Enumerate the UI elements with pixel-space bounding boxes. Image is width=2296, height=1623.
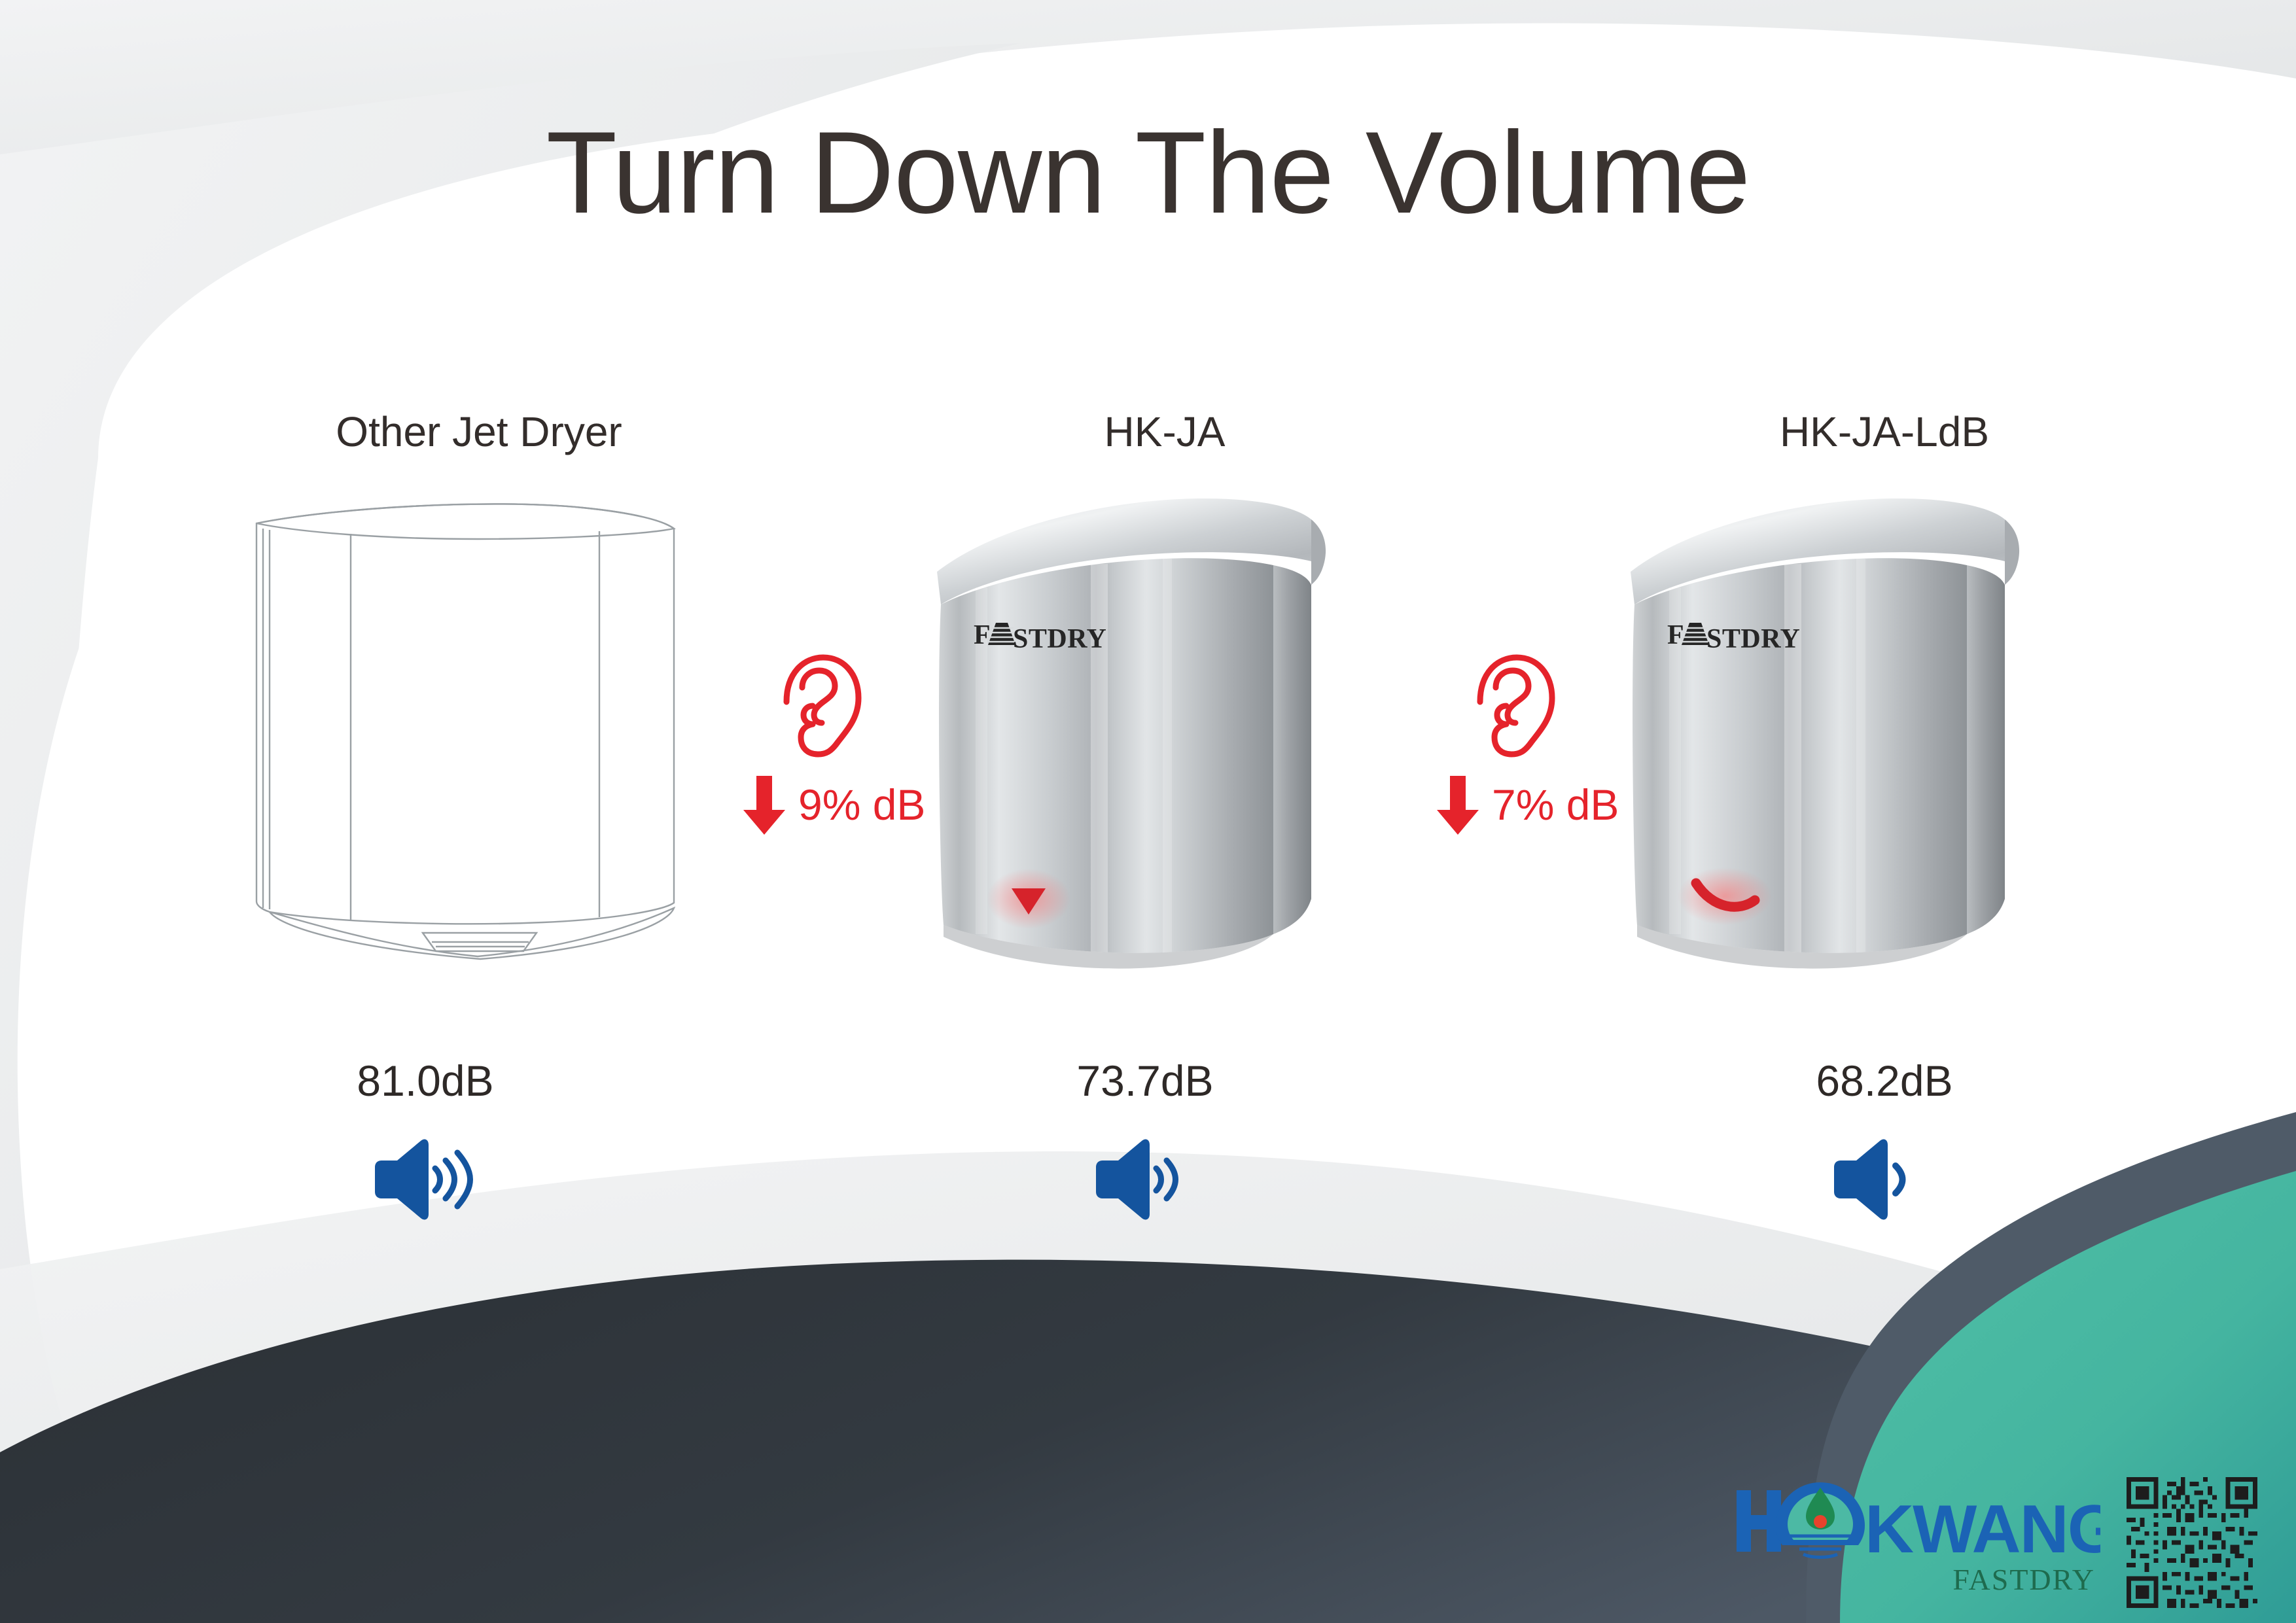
hand-dryer-photo: F STDRY [1597,483,2133,1006]
db-value: 81.0dB [157,1056,694,1106]
product-image-hk-ja: F STDRY [903,483,1439,1006]
jet-dryer-outline-icon [216,483,752,1006]
svg-text:F: F [974,620,991,650]
product-column-hk-ja: HK-JA F [903,406,1439,1222]
slide-canvas: Turn Down The Volume Other Jet Dryer [0,0,2296,1623]
page-title: Turn Down The Volume [0,114,2296,231]
product-image-outline-dryer [216,483,752,1006]
water-drop-emblem [1776,1482,1865,1558]
svg-text:STDRY: STDRY [1706,624,1800,654]
ear-icon [1466,651,1564,759]
fastdry-sub-label: FASTDRY [1952,1562,2095,1597]
product-label: Other Jet Dryer [211,406,747,458]
speaker-1-wave-icon [1615,1137,2151,1222]
product-column-other-jet-dryer: Other Jet Dryer [216,406,752,1222]
down-arrow-icon [739,773,789,836]
product-image-hk-ja-ldb: F STDRY [1597,483,2133,1006]
product-label: HK-JA-LdB [1616,406,2153,458]
speaker-3-waves-icon [156,1137,692,1222]
product-label: HK-JA [896,406,1433,458]
db-value: 68.2dB [1616,1056,2153,1106]
ear-icon [772,651,870,759]
down-arrow-icon [1433,773,1483,836]
qr-code-icon[interactable] [2127,1477,2257,1608]
hokwang-wordmark: KWANG [1734,1478,2100,1563]
product-column-hk-ja-ldb: HK-JA-LdB F [1597,406,2133,1222]
svg-text:STDRY: STDRY [1013,624,1106,654]
hand-dryer-photo: F STDRY [903,483,1439,1006]
svg-text:KWANG: KWANG [1865,1492,2100,1563]
hokwang-logo: KWANG FASTDRY [1734,1478,2100,1609]
db-value: 73.7dB [877,1056,1413,1106]
speaker-2-waves-icon [877,1137,1413,1222]
svg-text:F: F [1667,620,1684,650]
